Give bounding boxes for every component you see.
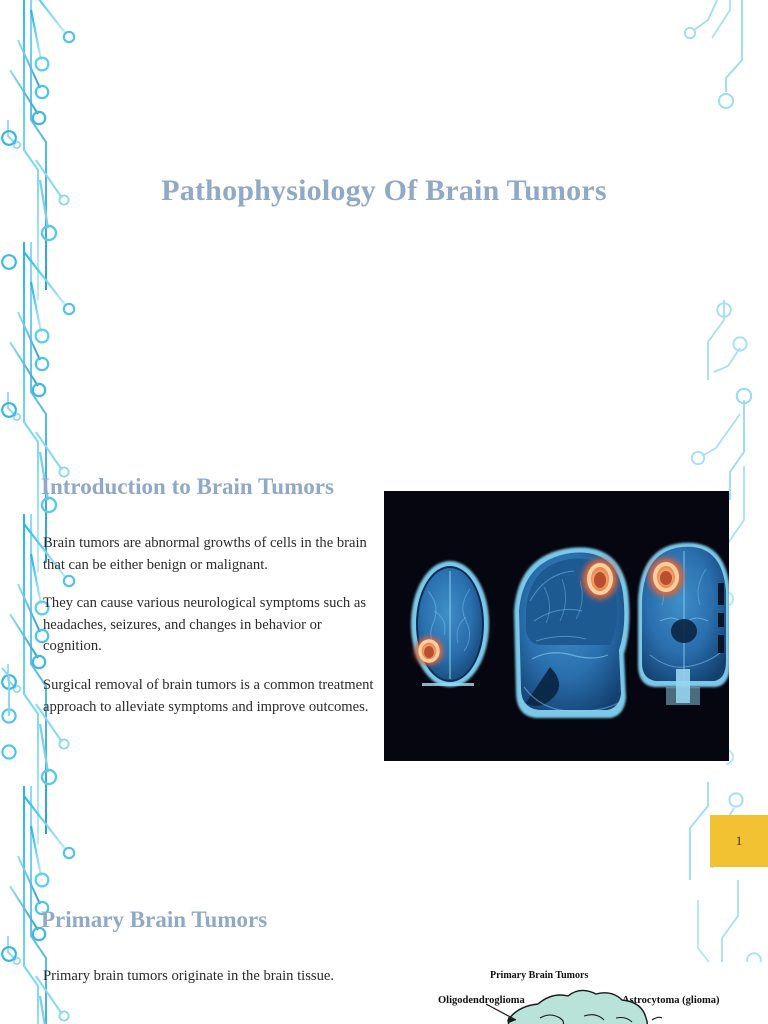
slide-page: Pathophysiology Of Brain Tumors Introduc… [0,0,768,1024]
mri-brain-scan-image [384,491,729,761]
section-body-introduction: Brain tumors are abnormal growths of cel… [43,533,375,718]
section-heading-primary-brain-tumors: Primary Brain Tumors [41,907,267,933]
page-number-badge: 1 [710,815,768,867]
section-body-primary-brain-tumors: Primary brain tumors originate in the br… [43,966,373,988]
paragraph: Surgical removal of brain tumors is a co… [43,675,375,718]
paragraph: Primary brain tumors originate in the br… [43,966,373,988]
paragraph: Brain tumors are abnormal growths of cel… [43,533,375,576]
circuit-decoration-left [0,0,120,1024]
page-number-value: 1 [736,833,743,849]
brain-cross-section-graphic [400,962,768,1024]
paragraph: They can cause various neurological symp… [43,593,375,658]
mri-view-coronal [638,543,729,705]
mri-view-axial [411,561,489,687]
primary-brain-tumors-diagram: Primary Brain Tumors Oligodendroglioma A… [400,962,768,1024]
section-heading-introduction: Introduction to Brain Tumors [41,474,334,500]
mri-view-sagittal [514,547,629,718]
page-title: Pathophysiology Of Brain Tumors [0,174,768,209]
mri-scan-graphic [384,491,729,761]
